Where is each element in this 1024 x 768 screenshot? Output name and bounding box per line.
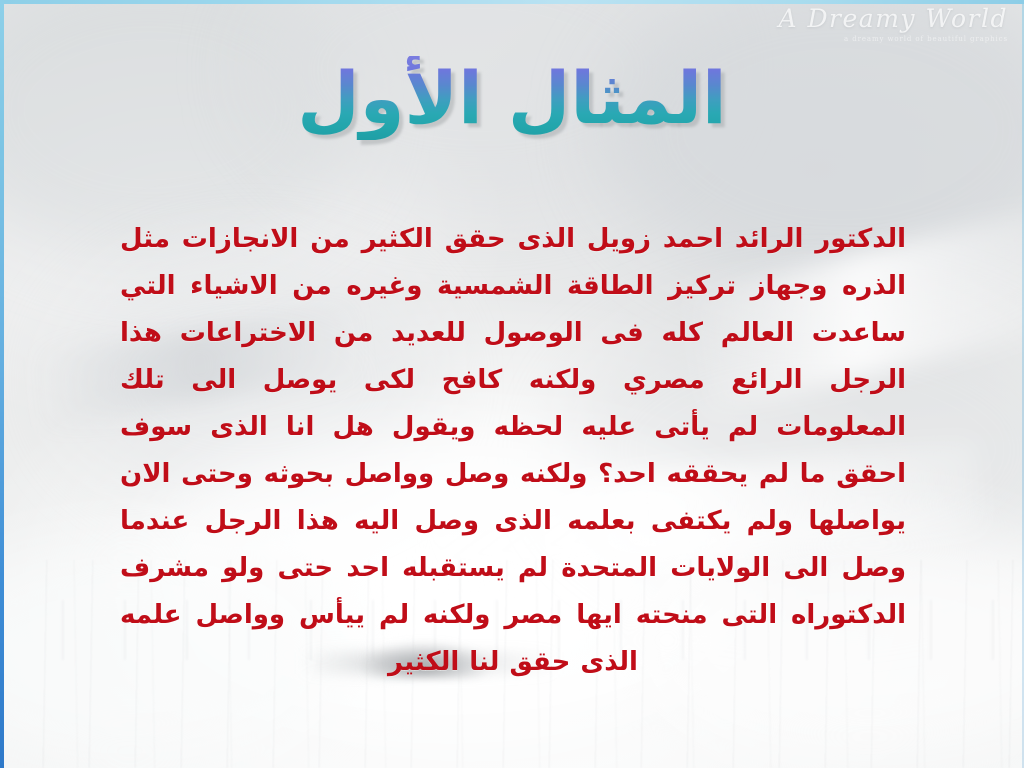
title-container: المثال الأول المثال الأول: [0, 52, 1024, 144]
title-stack: المثال الأول المثال الأول: [297, 52, 726, 144]
body-paragraph: الدكتور الرائد احمد زويل الذى حقق الكثير…: [120, 216, 906, 686]
slide-title: المثال الأول: [297, 56, 726, 140]
presentation-slide: A Dreamy World a dreamy world of beautif…: [0, 0, 1024, 768]
slide-border-top: [0, 0, 1024, 4]
slide-border-left: [0, 0, 4, 768]
body-container: الدكتور الرائد احمد زويل الذى حقق الكثير…: [120, 190, 906, 712]
